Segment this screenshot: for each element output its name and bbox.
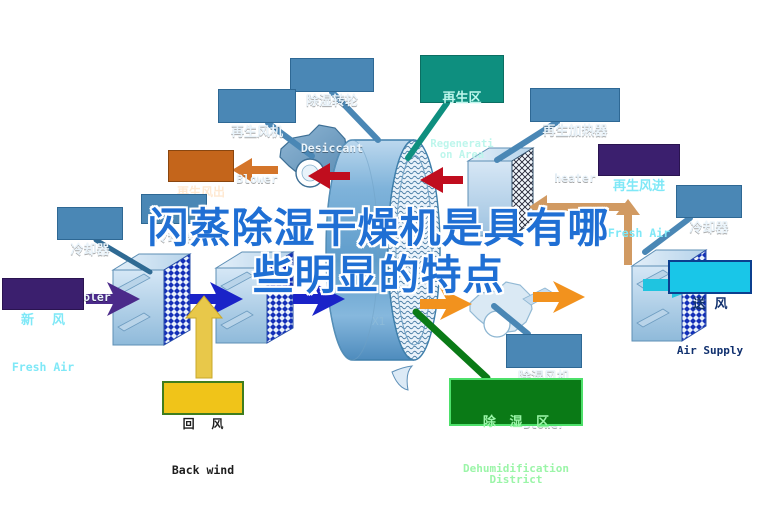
dehumidification-blower-fan xyxy=(470,282,553,337)
label-regeneration-blower[interactable]: 再生风机 Blower xyxy=(218,89,296,123)
label-desiccant-rotor[interactable]: 除湿转轮 Desiccant xyxy=(290,58,374,92)
label-dehumidification-blower[interactable]: 除湿风机 Blower xyxy=(506,334,582,368)
label-regeneration-heater-cn: 再生加热器 xyxy=(531,125,619,139)
label-cooler-left[interactable]: 冷却器 Cooler xyxy=(57,207,123,240)
label-fresh-air-cn: 新 风 xyxy=(3,314,83,328)
label-back-wind-cn: 回 风 xyxy=(164,418,242,431)
label-regeneration-area-en: Regenerati on Area xyxy=(421,139,503,161)
label-back-wind[interactable]: 回 风 Back wind xyxy=(162,381,244,415)
label-cooler-left-upper[interactable]: 冷却器 xyxy=(141,194,207,224)
label-air-supply-en: Air Supply xyxy=(670,345,750,357)
diagram-canvas: X1 xyxy=(0,0,757,488)
arrow-dry-air-2 xyxy=(533,281,585,313)
label-regeneration-fresh-air-en: Fresh Air xyxy=(599,227,679,239)
label-cooler-left-cn: 冷却器 xyxy=(58,244,122,258)
label-regeneration-blower-cn: 再生风机 xyxy=(219,126,295,140)
label-dehumidification-district-en: Dehumidification District xyxy=(451,463,581,486)
label-regeneration-fresh-air-cn: 再生风进 xyxy=(599,180,679,194)
label-fresh-air-en: Fresh Air xyxy=(3,361,83,373)
label-cooler-right[interactable]: 冷却器 Cooler xyxy=(676,185,742,218)
label-back-wind-en: Back wind xyxy=(164,464,242,476)
label-dehumidification-district-cn: 除 湿 区 xyxy=(451,416,581,430)
label-desiccant-rotor-en: Desiccant xyxy=(291,142,373,154)
label-exhaust[interactable]: 再生风出 Exhaust xyxy=(168,150,234,182)
label-regeneration-fresh-air[interactable]: 再生风进 Fresh Air xyxy=(598,144,680,176)
label-cooler-right-cn: 冷却器 xyxy=(677,222,741,236)
rotor-body-mark: X1 xyxy=(372,315,385,328)
label-regeneration-area[interactable]: 再生区 Regenerati on Area xyxy=(420,55,504,103)
label-dehumidification-district[interactable]: 除 湿 区 Dehumidification District xyxy=(449,378,583,426)
label-desiccant-rotor-cn: 除湿转轮 xyxy=(291,95,373,109)
label-fresh-air[interactable]: 新 风 Fresh Air xyxy=(2,278,84,310)
label-air-supply-cn: 送 风 xyxy=(670,298,750,312)
label-air-supply[interactable]: 送 风 Air Supply xyxy=(668,260,752,294)
label-cooler-left-upper-cn: 冷却器 xyxy=(142,231,206,245)
label-regeneration-heater[interactable]: 再生加热器 heater xyxy=(530,88,620,122)
label-regeneration-area-cn: 再生区 xyxy=(421,92,503,106)
